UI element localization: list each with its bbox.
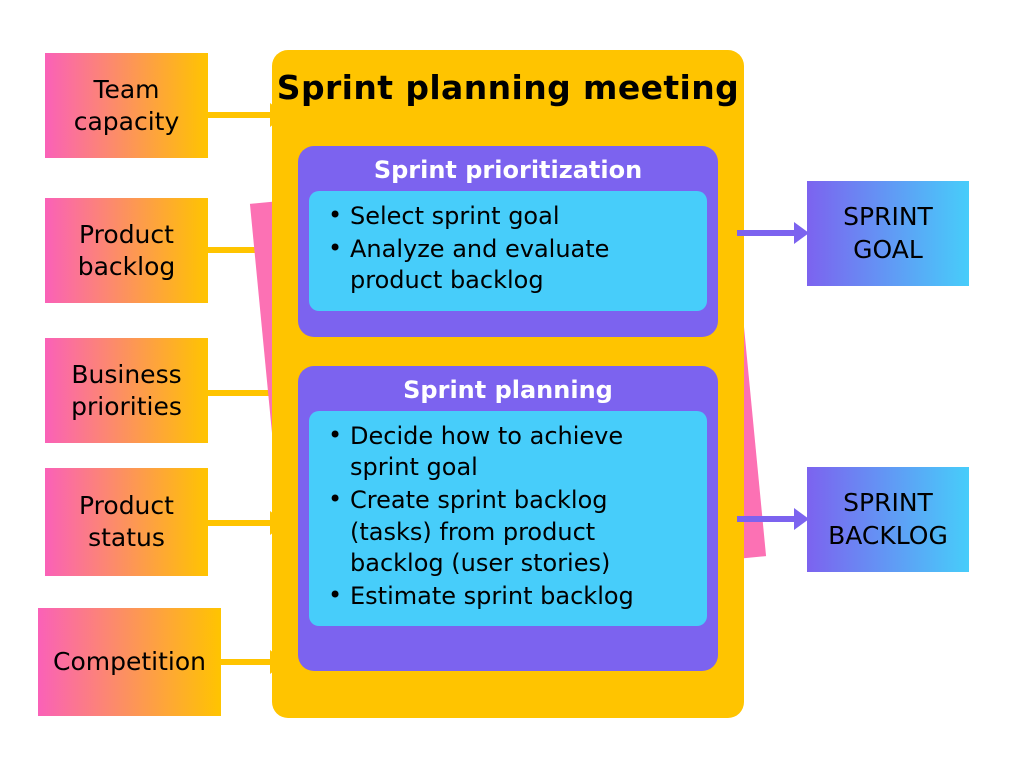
list-item: Decide how to achieve sprint goal xyxy=(350,421,693,483)
input-box-label: Product status xyxy=(55,490,198,554)
output-box-sprint-goal[interactable]: SPRINT GOAL xyxy=(807,181,969,286)
page-title: Sprint planning meeting xyxy=(272,68,744,107)
arrow-meeting-to-sprint-backlog xyxy=(737,508,809,530)
diagram-canvas: Team capacity Product backlog Business p… xyxy=(0,0,1024,768)
panel-body: Decide how to achieve sprint goal Create… xyxy=(309,411,707,626)
input-box-competition[interactable]: Competition xyxy=(38,608,221,716)
list-item: Estimate sprint backlog xyxy=(350,581,693,612)
panel-body: Select sprint goal Analyze and evaluate … xyxy=(309,191,707,311)
input-box-product-status[interactable]: Product status xyxy=(45,468,208,576)
input-box-label: Business priorities xyxy=(55,359,198,423)
bullet-list: Decide how to achieve sprint goal Create… xyxy=(323,421,693,612)
panel-sprint-prioritization[interactable]: Sprint prioritization Select sprint goal… xyxy=(298,146,718,337)
list-item: Select sprint goal xyxy=(350,201,693,232)
input-box-label: Team capacity xyxy=(55,74,198,138)
arrow-shaft xyxy=(208,390,272,396)
arrow-shaft xyxy=(737,230,796,236)
output-box-sprint-backlog[interactable]: SPRINT BACKLOG xyxy=(807,467,969,572)
input-box-label: Competition xyxy=(53,646,206,678)
panel-title: Sprint prioritization xyxy=(309,154,707,191)
arrow-shaft xyxy=(208,112,272,118)
panel-sprint-planning[interactable]: Sprint planning Decide how to achieve sp… xyxy=(298,366,718,671)
arrow-shaft xyxy=(221,659,272,665)
arrow-meeting-to-sprint-goal xyxy=(737,222,809,244)
input-box-team-capacity[interactable]: Team capacity xyxy=(45,53,208,158)
output-box-label: SPRINT GOAL xyxy=(815,201,961,266)
arrow-shaft xyxy=(737,516,796,522)
output-box-label: SPRINT BACKLOG xyxy=(815,487,961,552)
sprint-planning-meeting-card: Sprint planning meeting Sprint prioritiz… xyxy=(272,50,744,718)
list-item: Analyze and evaluate product backlog xyxy=(350,234,693,296)
panel-title: Sprint planning xyxy=(309,374,707,411)
list-item: Create sprint backlog (tasks) from produ… xyxy=(350,485,693,579)
input-box-business-priorities[interactable]: Business priorities xyxy=(45,338,208,443)
input-box-product-backlog[interactable]: Product backlog xyxy=(45,198,208,303)
arrow-shaft xyxy=(208,520,272,526)
bullet-list: Select sprint goal Analyze and evaluate … xyxy=(323,201,693,297)
input-box-label: Product backlog xyxy=(55,219,198,283)
